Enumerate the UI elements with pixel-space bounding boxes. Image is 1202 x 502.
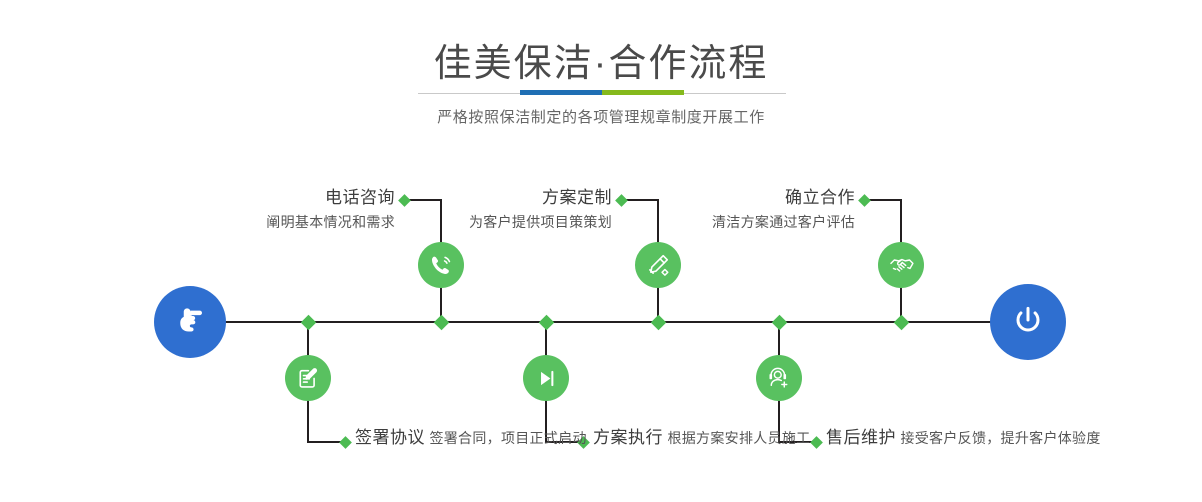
axis-marker-step-5 bbox=[893, 314, 909, 330]
label-marker-step-2 bbox=[339, 436, 352, 449]
timeline-end-node bbox=[990, 284, 1066, 360]
step-label-2: 签署协议 签署合同，项目正式启动 bbox=[355, 426, 587, 450]
step-name-6: 售后维护 bbox=[826, 428, 896, 447]
step-icon-play-execute[interactable] bbox=[523, 355, 569, 401]
step-name-3: 方案定制 bbox=[330, 186, 612, 210]
connector-horizontal-step-5 bbox=[866, 199, 902, 201]
pencil-edit-icon bbox=[645, 252, 671, 278]
step-icon-pencil-edit[interactable] bbox=[635, 242, 681, 288]
pointing-hand-icon bbox=[170, 300, 210, 345]
label-marker-step-5 bbox=[858, 194, 871, 207]
step-icon-sign-document[interactable] bbox=[285, 355, 331, 401]
axis-marker-step-3 bbox=[650, 314, 666, 330]
step-label-6: 售后维护 接受客户反馈，提升客户体验度 bbox=[826, 426, 1101, 450]
step-desc-5: 清洁方案通过客户评估 bbox=[585, 210, 855, 234]
axis-marker-step-6 bbox=[771, 314, 787, 330]
step-icon-phone-call[interactable] bbox=[418, 242, 464, 288]
step-desc-6: 接受客户反馈，提升客户体验度 bbox=[900, 430, 1100, 446]
play-execute-icon bbox=[534, 366, 559, 391]
step-icon-handshake[interactable] bbox=[878, 242, 924, 288]
axis-marker-step-2 bbox=[300, 314, 316, 330]
handshake-icon bbox=[888, 252, 915, 279]
step-label-4: 方案执行 根据方案安排人员施工 bbox=[593, 426, 810, 450]
power-icon bbox=[1008, 300, 1048, 345]
sign-document-icon bbox=[295, 365, 321, 391]
step-name-2: 签署协议 bbox=[355, 428, 425, 447]
page-subtitle: 严格按照保洁制定的各项管理规章制度开展工作 bbox=[0, 106, 1202, 130]
step-icon-customer-support[interactable] bbox=[756, 355, 802, 401]
label-marker-step-6 bbox=[810, 436, 823, 449]
axis-marker-step-4 bbox=[538, 314, 554, 330]
step-label-3: 方案定制 为客户提供项目策策划 bbox=[330, 186, 612, 234]
phone-call-icon bbox=[428, 252, 454, 278]
step-label-5: 确立合作 清洁方案通过客户评估 bbox=[585, 186, 855, 234]
step-desc-4: 根据方案安排人员施工 bbox=[667, 430, 810, 446]
step-desc-2: 签署合同，项目正式启动 bbox=[429, 430, 586, 446]
customer-support-icon bbox=[766, 365, 792, 391]
timeline-start-node bbox=[154, 286, 226, 358]
title-divider-green-segment bbox=[602, 90, 684, 95]
axis-marker-step-1 bbox=[433, 314, 449, 330]
step-name-5: 确立合作 bbox=[585, 186, 855, 210]
title-divider-blue-segment bbox=[520, 90, 602, 95]
page-title: 佳美保洁·合作流程 bbox=[0, 38, 1202, 90]
connector-horizontal-step-2 bbox=[307, 441, 343, 443]
step-name-4: 方案执行 bbox=[593, 428, 663, 447]
process-flow-infographic: 佳美保洁·合作流程 严格按照保洁制定的各项管理规章制度开展工作 bbox=[0, 0, 1202, 502]
step-desc-3: 为客户提供项目策策划 bbox=[330, 210, 612, 234]
